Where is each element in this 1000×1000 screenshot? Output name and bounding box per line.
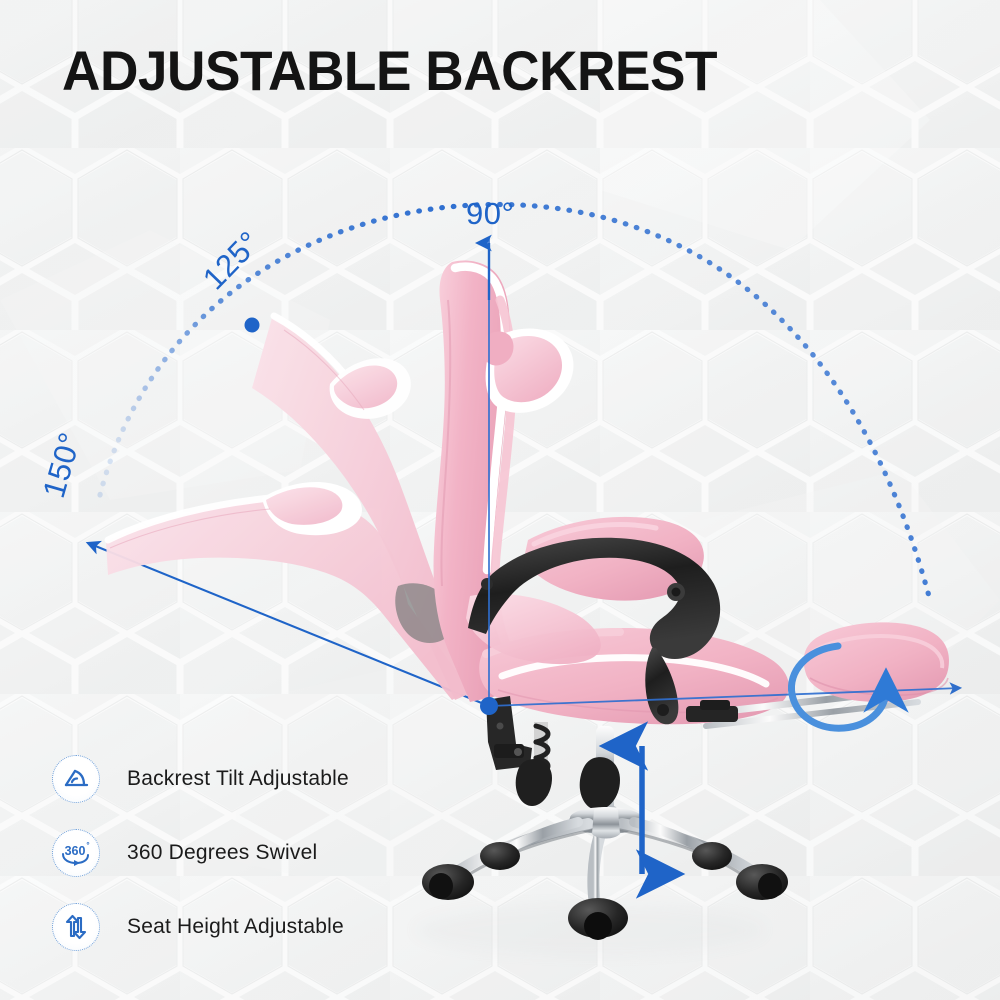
angle-label-90: 90° [466,196,514,232]
feature-item-backrest-tilt: Backrest Tilt Adjustable [52,742,472,816]
feature-list: Backrest Tilt Adjustable 360 ° 360 Degre… [52,742,472,964]
svg-text:360: 360 [65,844,86,858]
seat-height-icon [52,903,100,951]
feature-label: 360 Degrees Swivel [127,841,317,865]
feature-label: Backrest Tilt Adjustable [127,767,349,791]
feature-label: Seat Height Adjustable [127,915,344,939]
infographic-canvas: ADJUSTABLE BACKREST [0,0,1000,1000]
feature-item-seat-height: Seat Height Adjustable [52,890,472,964]
page-title: ADJUSTABLE BACKREST [62,38,717,103]
feature-item-swivel: 360 ° 360 Degrees Swivel [52,816,472,890]
360-swivel-icon: 360 ° [52,829,100,877]
backrest-tilt-icon [52,755,100,803]
svg-text:°: ° [86,841,89,850]
